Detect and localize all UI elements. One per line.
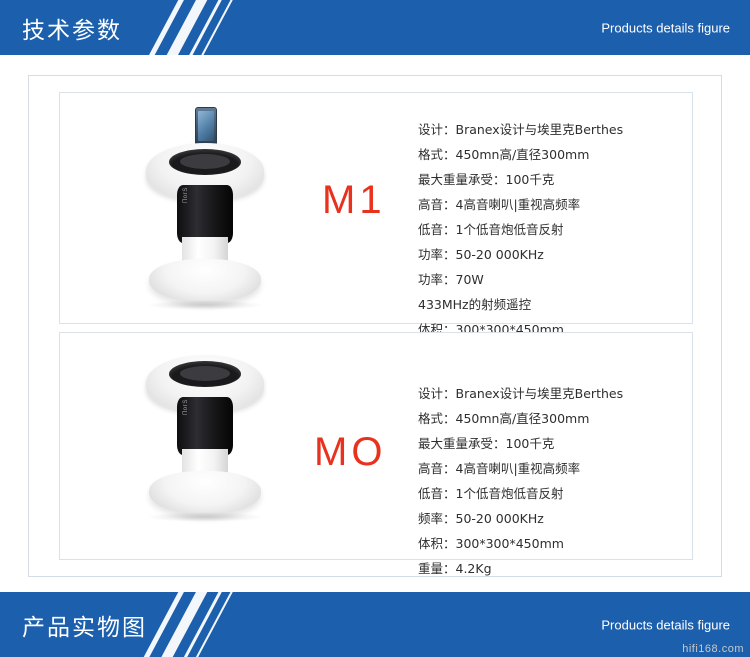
model-label-m1: M1 <box>322 178 386 223</box>
top-banner-title: 技术参数 <box>22 11 122 45</box>
speaker-shadow <box>146 300 264 310</box>
product-card-m1: ПогЅ M1 设计：Branex设计与埃里克Berthes 格式：450mn高… <box>59 92 693 324</box>
spec-line: 最大重量承受：100千克 <box>418 167 688 192</box>
spec-line: 频率：50-20 000KHz <box>418 506 688 531</box>
speaker-shadow <box>146 512 264 522</box>
spec-line: 功率：50-20 000KHz <box>418 242 688 267</box>
speaker-base <box>149 471 261 515</box>
spec-line: 格式：450mn高/直径300mm <box>418 406 688 431</box>
bottom-banner: 产品实物图 Products details figure <box>0 592 750 657</box>
spec-line: 设计：Branex设计与埃里克Berthes <box>418 381 688 406</box>
spec-line: 高音：4高音喇叭|重视高频率 <box>418 192 688 217</box>
spec-line: 433MHz的射频遥控 <box>418 292 688 317</box>
model-label-mo: MO <box>314 430 386 475</box>
spec-line: 低音：1个低音炮低音反射 <box>418 481 688 506</box>
spec-line: 体积：300*300*450mm <box>418 531 688 556</box>
bottom-banner-subtitle: Products details figure <box>601 617 730 632</box>
bottom-banner-title: 产品实物图 <box>22 608 147 642</box>
smartphone-icon <box>195 107 217 147</box>
speaker-neck: ПогЅ <box>177 185 233 243</box>
spec-line: 重量：4.2Kg <box>418 556 688 581</box>
top-banner: 技术参数 Products details figure <box>0 0 750 55</box>
speaker-top-ring-inner <box>180 366 230 381</box>
spec-line: 功率：70W <box>418 267 688 292</box>
top-banner-subtitle: Products details figure <box>601 20 730 35</box>
spec-line: 高音：4高音喇叭|重视高频率 <box>418 456 688 481</box>
speaker-brand-label: ПогЅ <box>183 399 189 415</box>
speaker-image-mo: ПогЅ <box>90 333 320 559</box>
speaker-image-m1: ПогЅ <box>90 93 320 323</box>
spec-line: 格式：450mn高/直径300mm <box>418 142 688 167</box>
content-frame: ПогЅ M1 设计：Branex设计与埃里克Berthes 格式：450mn高… <box>28 75 722 577</box>
speaker-base <box>149 259 261 303</box>
product-card-mo: ПогЅ MO 设计：Branex设计与埃里克Berthes 格式：450mn高… <box>59 332 693 560</box>
spec-line: 低音：1个低音炮低音反射 <box>418 217 688 242</box>
speaker-brand-label: ПогЅ <box>183 187 189 203</box>
spec-list-mo: 设计：Branex设计与埃里克Berthes 格式：450mn高/直径300mm… <box>418 381 688 581</box>
spec-list-m1: 设计：Branex设计与埃里克Berthes 格式：450mn高/直径300mm… <box>418 117 688 367</box>
speaker-neck: ПогЅ <box>177 397 233 455</box>
watermark: hifi168.com <box>682 643 744 655</box>
spec-line: 设计：Branex设计与埃里克Berthes <box>418 117 688 142</box>
speaker-top-ring-inner <box>180 154 230 169</box>
spec-line: 最大重量承受：100千克 <box>418 431 688 456</box>
